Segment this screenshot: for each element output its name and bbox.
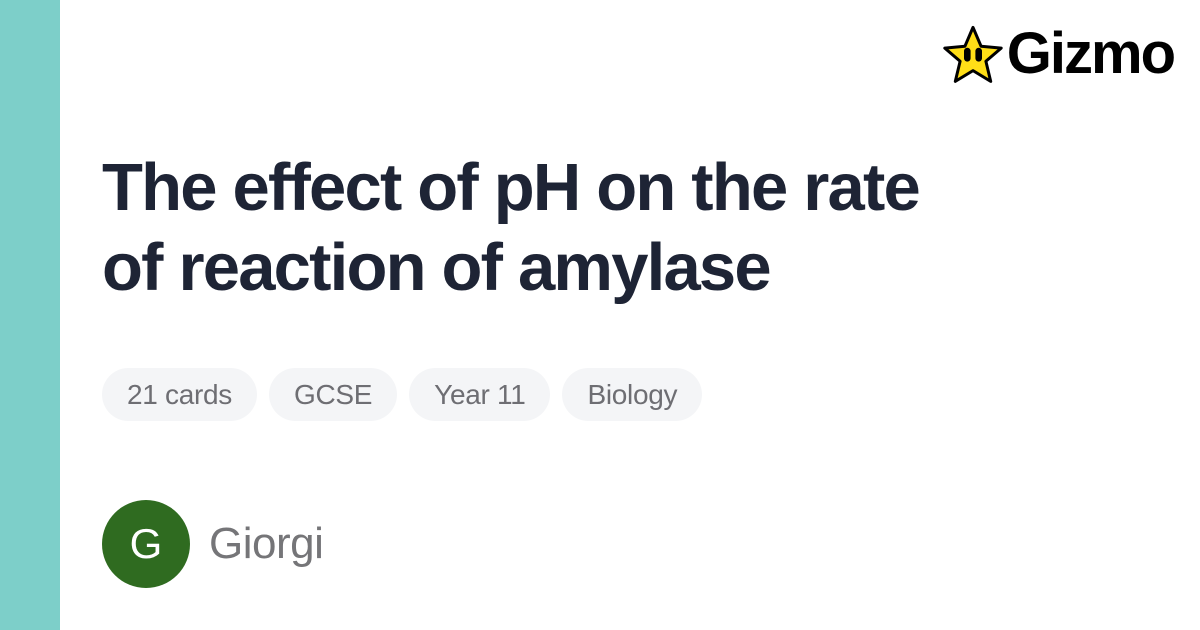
- content-column: The effect of pH on the rate of reaction…: [102, 0, 1162, 630]
- meta-pill-card-count[interactable]: 21 cards: [102, 368, 257, 421]
- page-title: The effect of pH on the rate of reaction…: [102, 148, 1112, 308]
- page-title-line-1: The effect of pH on the rate: [102, 148, 1112, 228]
- meta-pill-subject[interactable]: Biology: [562, 368, 702, 421]
- meta-pill-exam-board[interactable]: GCSE: [269, 368, 397, 421]
- meta-pill-list: 21 cards GCSE Year 11 Biology: [102, 368, 702, 421]
- page-title-line-2: of reaction of amylase: [102, 228, 1112, 308]
- author-name: Giorgi: [209, 519, 323, 569]
- avatar[interactable]: G: [102, 500, 190, 588]
- meta-pill-year[interactable]: Year 11: [409, 368, 550, 421]
- avatar-initial: G: [130, 523, 163, 565]
- author-row[interactable]: G Giorgi: [102, 500, 323, 588]
- accent-stripe: [0, 0, 60, 630]
